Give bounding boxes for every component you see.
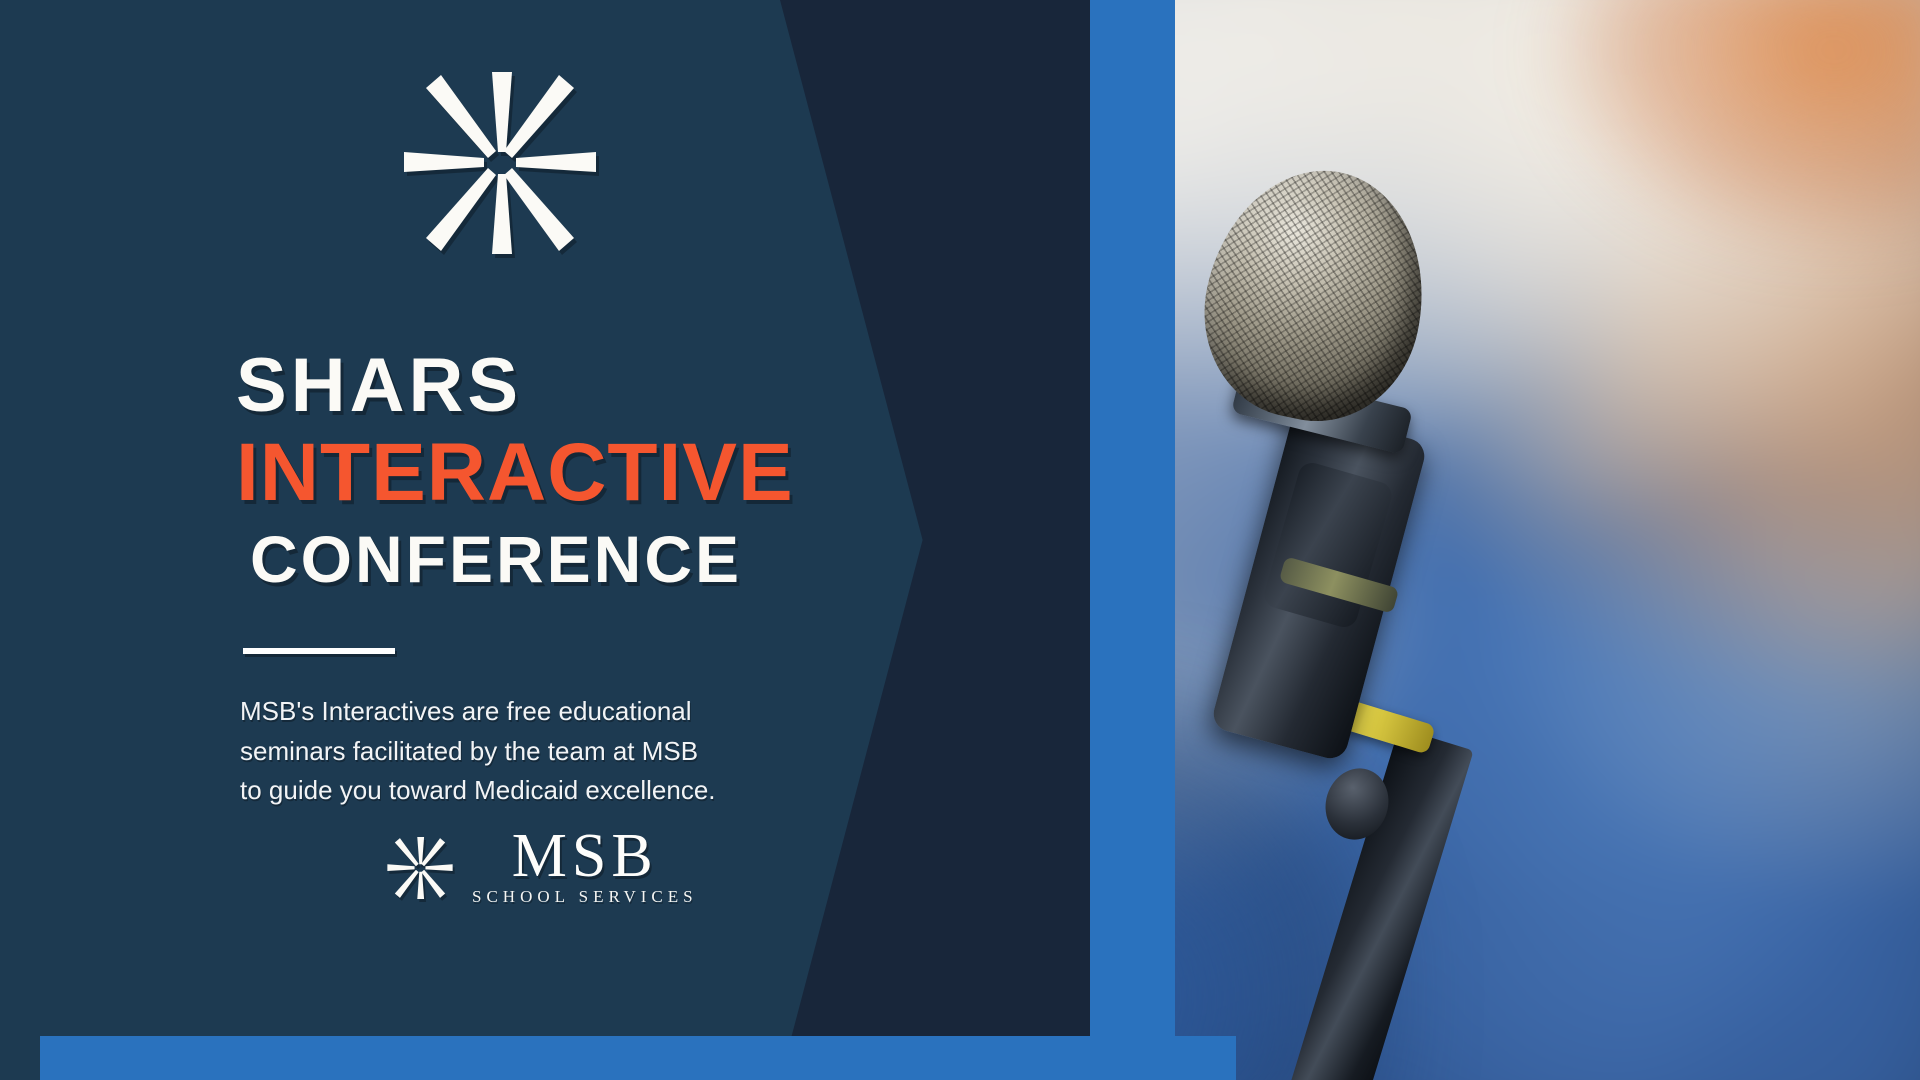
conference-promo-banner: SHARS INTERACTIVE CONFERENCE MSB's Inter… [0, 0, 1920, 1080]
mic-head [1184, 150, 1446, 439]
description-line-2: seminars facilitated by the team at MSB [240, 732, 860, 772]
page-title: SHARS INTERACTIVE CONFERENCE [236, 348, 936, 592]
headline-line-interactive: INTERACTIVE [236, 432, 936, 514]
microphone-graphic [1130, 170, 1550, 1080]
headline-line-conference: CONFERENCE [250, 526, 936, 592]
headline-line-shars: SHARS [236, 348, 936, 424]
msb-starburst-icon [400, 68, 600, 258]
footer-blue-bar [40, 1036, 1236, 1080]
msb-logo-tagline: SCHOOL SERVICES [472, 887, 698, 907]
description-line-1: MSB's Interactives are free educational [240, 692, 860, 732]
mic-mesh-texture [1184, 150, 1446, 439]
description-line-3: to guide you toward Medicaid excellence. [240, 771, 860, 811]
msb-wordmark: MSB [512, 828, 658, 885]
description-text: MSB's Interactives are free educational … [240, 692, 860, 811]
msb-starburst-icon [386, 835, 454, 901]
msb-logo-lockup: MSB SCHOOL SERVICES [386, 828, 698, 907]
warm-light-glow [1540, 0, 1920, 260]
title-divider-rule [243, 648, 395, 654]
content-panel: SHARS INTERACTIVE CONFERENCE MSB's Inter… [0, 0, 980, 1080]
